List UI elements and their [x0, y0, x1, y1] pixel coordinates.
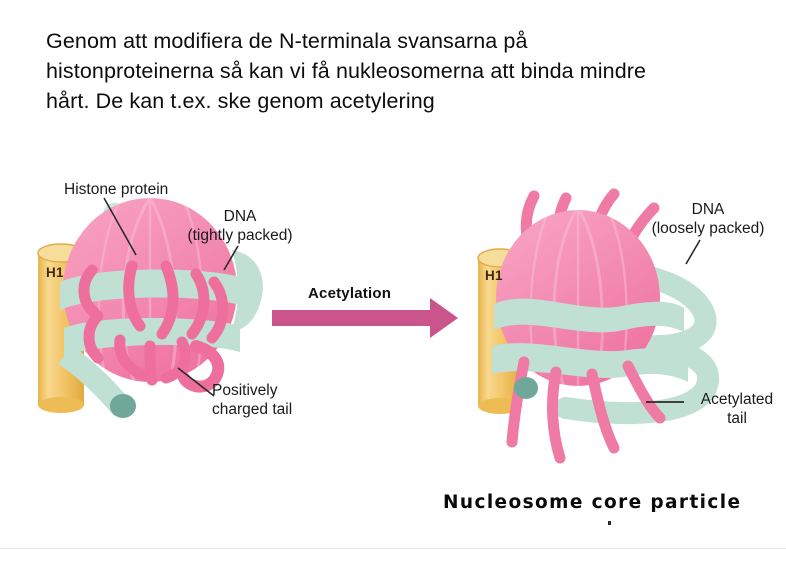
label-dna-tightly-packed: DNA (tightly packed) [160, 207, 320, 245]
nucleosome-figure: Histone protein DNA (tightly packed) Pos… [0, 150, 786, 550]
slide-bottom-mark [608, 521, 611, 525]
label-histone-protein: Histone protein [64, 180, 168, 199]
label-h1-right: H1 [485, 268, 503, 283]
leader-line-dna-loose [686, 240, 700, 264]
label-h1-left: H1 [46, 265, 64, 280]
acetylation-arrow [272, 298, 458, 338]
label-dna-loosely-packed: DNA (loosely packed) [632, 200, 784, 238]
label-acetylation-arrow: Acetylation [308, 285, 391, 302]
dna-terminal-dot-left [110, 394, 136, 418]
label-acetylated-tail: Acetylated tail [688, 390, 786, 428]
figure-caption: Nucleosome core particle [443, 492, 741, 513]
label-positively-charged-tail: Positively charged tail [212, 381, 292, 419]
dna-terminal-dot-right [514, 377, 538, 399]
slide-bottom-divider [0, 548, 786, 549]
slide-title: Genom att modifiera de N-terminala svans… [46, 26, 762, 116]
